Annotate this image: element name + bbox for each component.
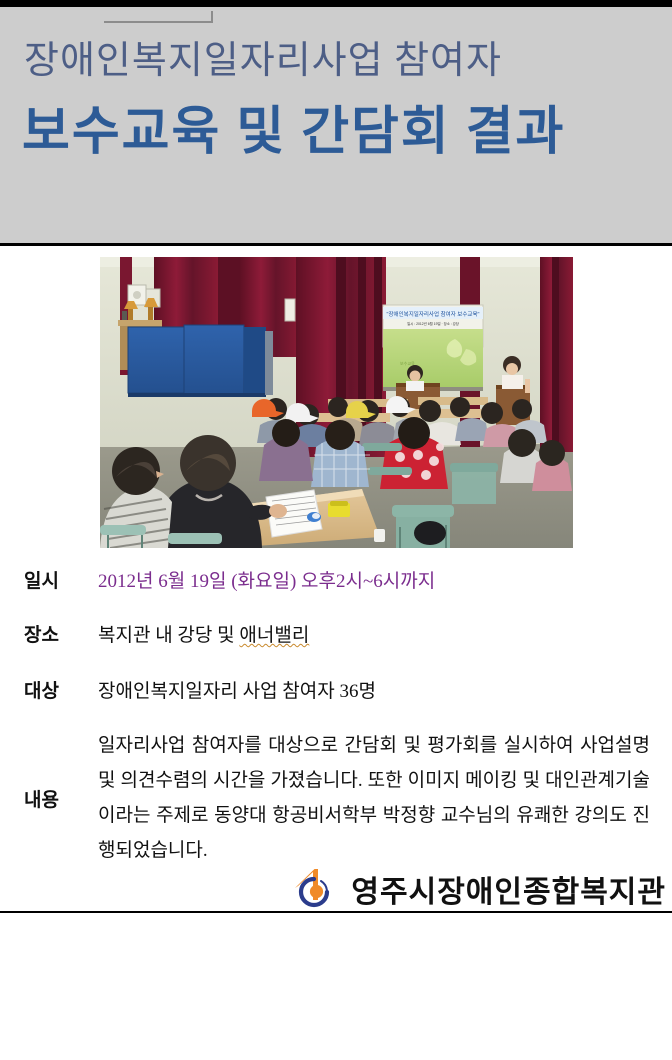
info-label-place: 장소 [24,616,98,647]
info-value-place-prefix: 복지관 내 강당 및 [98,625,239,646]
header-block: 장애인복지일자리사업 참여자 보수교육 및 간담회 결과 [0,7,672,246]
svg-text:보수교육: 보수교육 [400,360,415,366]
info-label-date: 일시 [24,560,98,593]
info-row-target: 대상 장애인복지일자리 사업 참여자 36명 [0,672,672,728]
info-value-content: 일자리사업 참여자를 대상으로 간담회 및 평가회를 실시하여 사업설명 및 의… [98,728,672,868]
info-table: 일시 2012년 6월 19일 (화요일) 오후2시~6시까지 장소 복지관 내… [0,560,672,868]
info-row-place: 장소 복지관 내 강당 및 애너밸리 [0,616,672,672]
header-tab-decoration [104,11,213,23]
top-black-bar [0,0,672,7]
info-value-place-spellcheck-term: 애너밸리 [239,625,309,646]
page-title-line-1: 장애인복지일자리사업 참여자 [24,37,502,85]
organization-logo-icon [291,866,337,912]
footer: 영주시장애인종합복지관 [0,866,672,912]
footer-divider-rule [0,911,672,913]
info-row-content: 내용 일자리사업 참여자를 대상으로 간담회 및 평가회를 실시하여 사업설명 … [0,728,672,868]
info-label-target: 대상 [24,672,98,703]
svg-text:"장애인복지일자리사업 참여자 보수교육": "장애인복지일자리사업 참여자 보수교육" [387,310,480,318]
event-photo: "장애인복지일자리사업 참여자 보수교육" 일시 : 2012년 6월 19일 … [100,257,573,548]
info-value-place: 복지관 내 강당 및 애너밸리 [98,616,672,647]
info-label-content: 내용 [24,785,98,812]
event-photo-image: "장애인복지일자리사업 참여자 보수교육" 일시 : 2012년 6월 19일 … [100,257,573,548]
page-title-line-2: 보수교육 및 간담회 결과 [22,100,565,166]
info-value-date: 2012년 6월 19일 (화요일) 오후2시~6시까지 [98,560,672,593]
organization-name: 영주시장애인종합복지관 [351,867,666,911]
info-row-date: 일시 2012년 6월 19일 (화요일) 오후2시~6시까지 [0,560,672,616]
svg-text:일시 : 2012년 6월 19일 · 장소 : 강당: 일시 : 2012년 6월 19일 · 장소 : 강당 [407,321,459,326]
info-value-target: 장애인복지일자리 사업 참여자 36명 [98,672,672,703]
